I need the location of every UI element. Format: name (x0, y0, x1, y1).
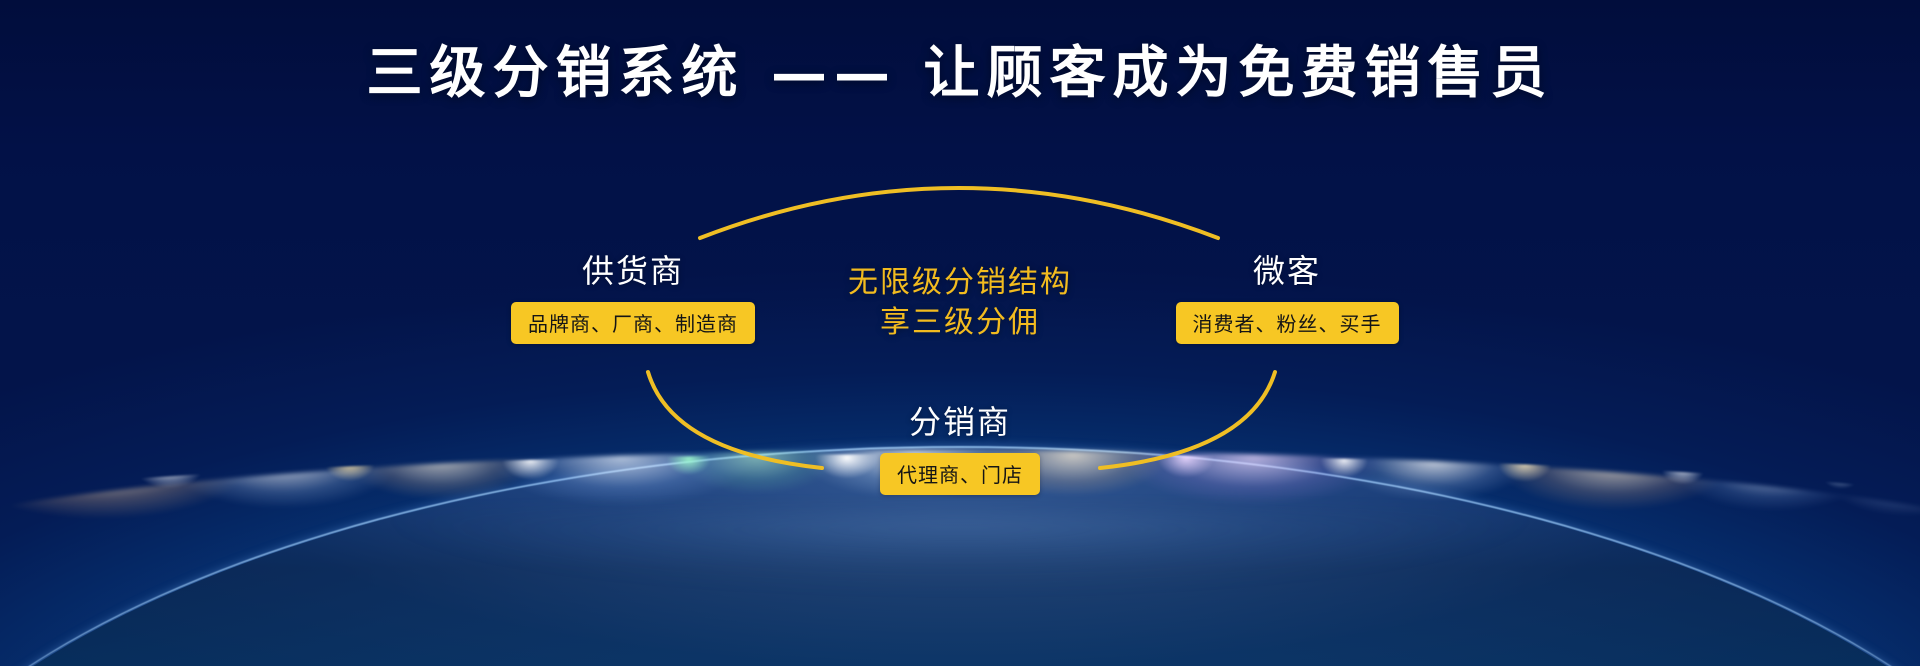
node-supplier-badge: 品牌商、厂商、制造商 (511, 302, 755, 344)
distribution-flow-diagram: 供货商 品牌商、厂商、制造商 微客 消费者、粉丝、买手 分销商 代理商、门店 无… (0, 0, 1920, 666)
center-caption-line2: 享三级分佣 (810, 303, 1110, 343)
node-weike[interactable]: 微客 消费者、粉丝、买手 (1060, 254, 1514, 344)
center-caption-line1: 无限级分销结构 (810, 263, 1110, 303)
node-supplier[interactable]: 供货商 品牌商、厂商、制造商 (406, 254, 860, 344)
center-caption: 无限级分销结构 享三级分佣 (810, 263, 1110, 343)
node-supplier-title: 供货商 (406, 254, 860, 289)
node-weike-badge: 消费者、粉丝、买手 (1176, 302, 1399, 344)
distribution-system-banner: 三级分销系统 —— 让顾客成为免费销售员 供货商 品牌商、厂商、制造商 微客 消… (0, 0, 1920, 666)
node-distributor-title: 分销商 (735, 405, 1185, 440)
node-weike-title: 微客 (1060, 254, 1514, 289)
node-distributor-badge: 代理商、门店 (880, 453, 1040, 495)
arc-supplier-to-weike-icon (700, 188, 1218, 238)
node-distributor[interactable]: 分销商 代理商、门店 (735, 405, 1185, 495)
